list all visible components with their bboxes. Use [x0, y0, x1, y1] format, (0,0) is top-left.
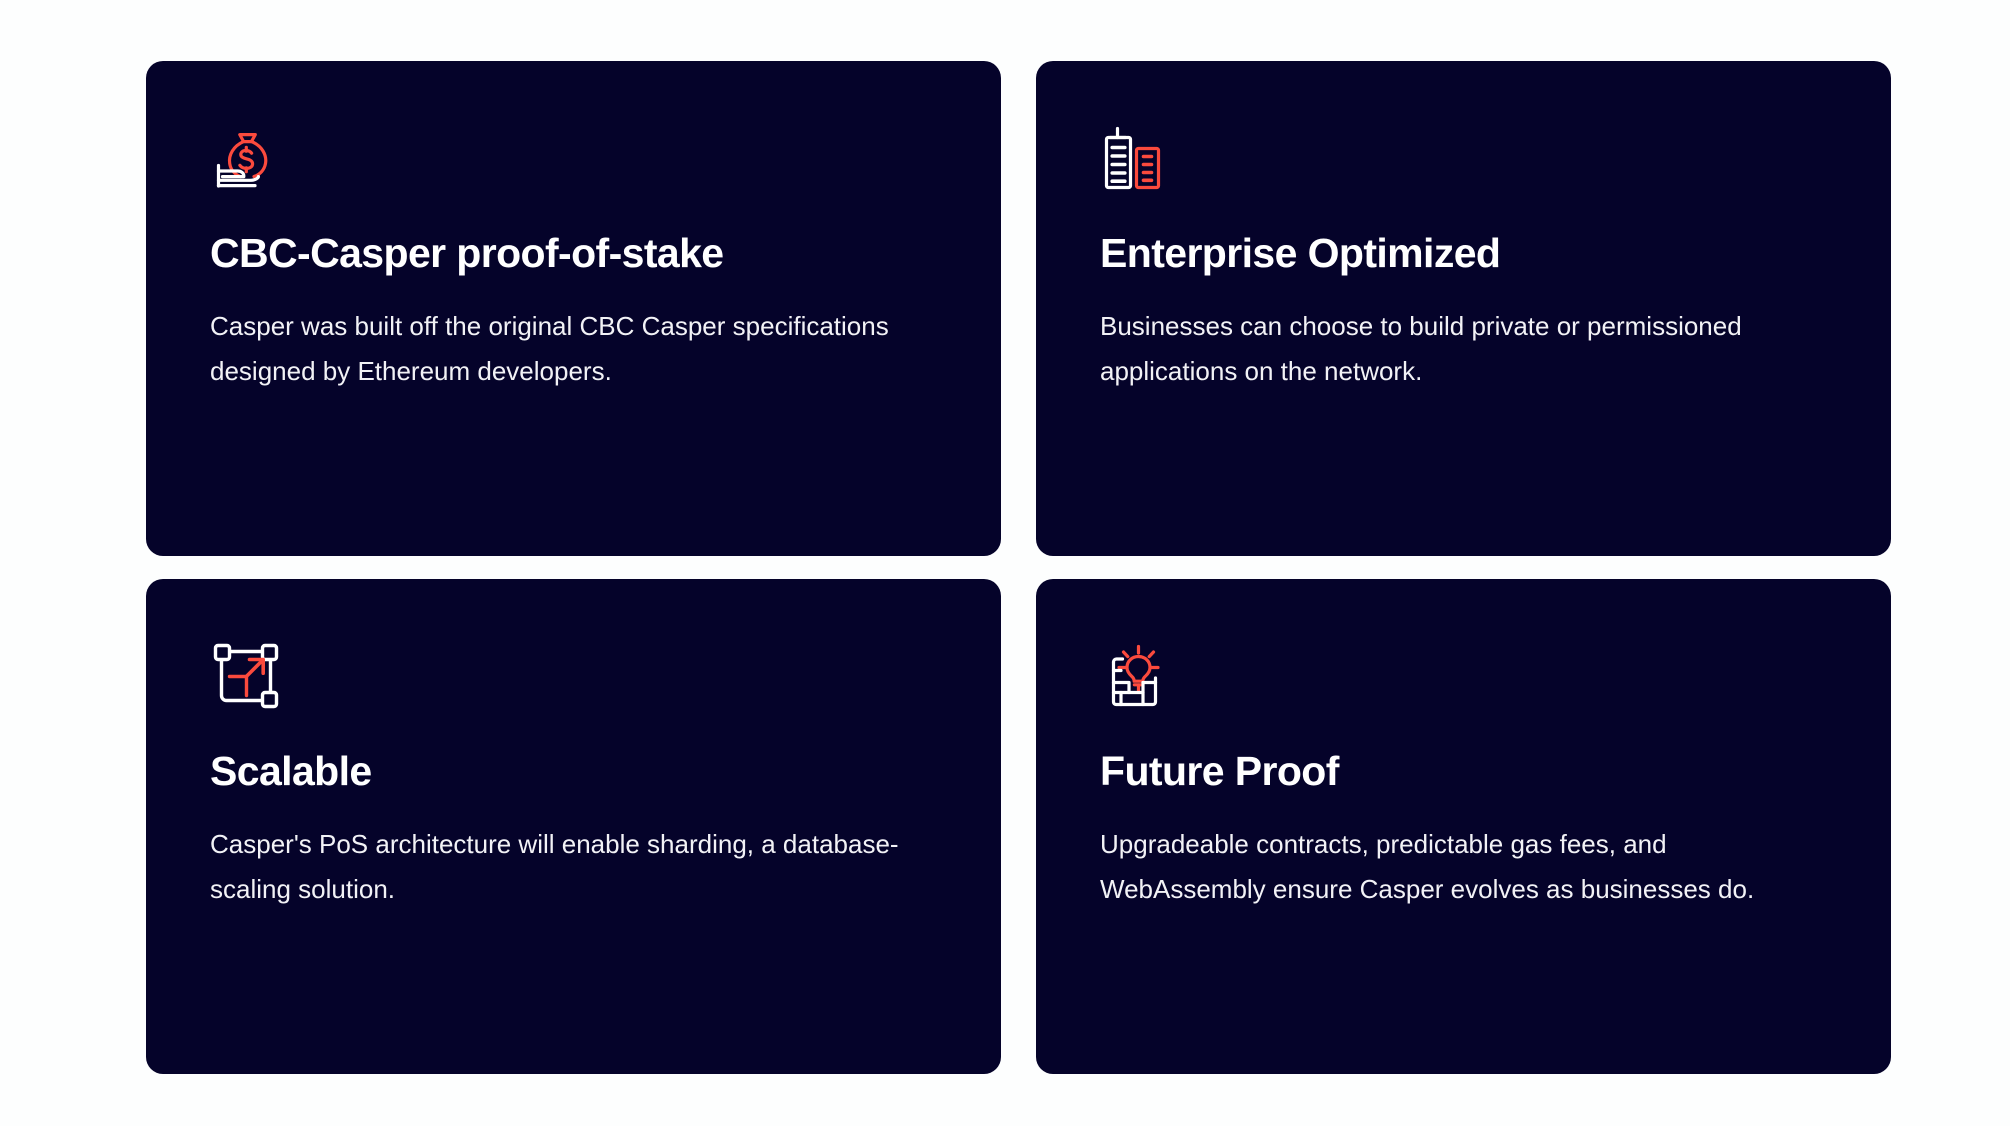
feature-card-enterprise-optimized[interactable]: Enterprise Optimized Businesses can choo… [1036, 61, 1891, 556]
card-description: Businesses can choose to build private o… [1100, 304, 1790, 393]
feature-card-scalable[interactable]: Scalable Casper's PoS architecture will … [146, 579, 1001, 1074]
card-description: Casper's PoS architecture will enable sh… [210, 822, 900, 911]
resize-arrow-icon [210, 640, 282, 712]
card-title: Future Proof [1100, 749, 1827, 794]
feature-cards-page: CBC-Casper proof-of-stake Casper was bui… [0, 0, 2010, 1126]
feature-cards-grid: CBC-Casper proof-of-stake Casper was bui… [146, 61, 1891, 1074]
lightbulb-blueprint-icon [1100, 640, 1172, 712]
office-buildings-icon [1100, 122, 1172, 194]
feature-card-future-proof[interactable]: Future Proof Upgradeable contracts, pred… [1036, 579, 1891, 1074]
money-bag-hand-icon [210, 122, 282, 194]
feature-card-cbc-casper[interactable]: CBC-Casper proof-of-stake Casper was bui… [146, 61, 1001, 556]
card-description: Casper was built off the original CBC Ca… [210, 304, 900, 393]
card-description: Upgradeable contracts, predictable gas f… [1100, 822, 1790, 911]
card-title: CBC-Casper proof-of-stake [210, 231, 937, 276]
card-title: Scalable [210, 749, 937, 794]
card-title: Enterprise Optimized [1100, 231, 1827, 276]
